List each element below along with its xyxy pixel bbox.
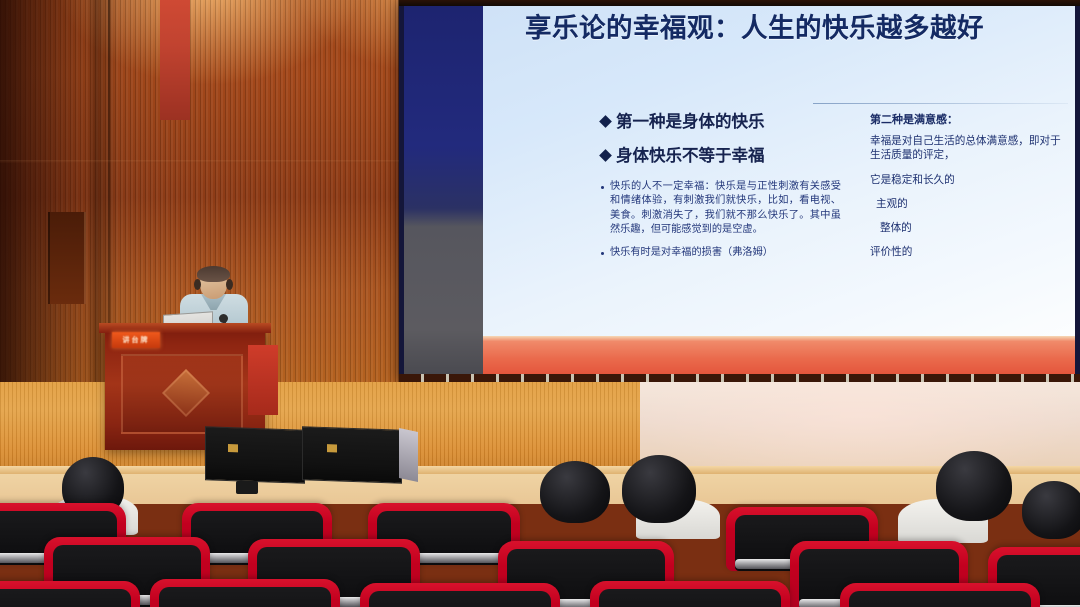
presenter-ear-left — [194, 279, 201, 290]
podium-front-panel — [121, 354, 243, 434]
stage-chair-edge — [248, 345, 278, 415]
diamond-bullet-icon — [599, 149, 612, 162]
speaker-logo-icon — [228, 444, 238, 452]
right-column-body: 幸福是对自己生活的总体满意感，即对于生活质量的评定， — [870, 135, 1070, 164]
slide-title: 享乐论的幸福观：人生的快乐越多越好 — [525, 12, 1055, 45]
seat-back-panel — [599, 589, 781, 607]
right-column-heading: 第二种是满意感： — [870, 111, 1070, 127]
audience-head — [936, 451, 1012, 521]
slide-left-column: 第一种是身体的快乐 身体快乐不等于幸福 快乐的人不一定幸福：快乐是与正性刺激有关… — [601, 112, 841, 268]
diamond-bullet-icon — [599, 115, 612, 128]
diamond-point: 第一种是身体的快乐 — [601, 112, 841, 132]
theater-seat[interactable] — [360, 583, 560, 607]
podium-name-plate: 讲台牌 — [112, 332, 160, 348]
slide-footer-band — [483, 336, 1075, 374]
speaker-logo-icon — [327, 444, 337, 452]
audience-head — [1022, 481, 1080, 539]
diamond-point: 身体快乐不等于幸福 — [601, 146, 841, 166]
sub-bullet: 快乐的人不一定幸福：快乐是与正性刺激有关感受和情绪体验，有刺激我们就快乐，比如，… — [601, 180, 841, 238]
theater-seat[interactable] — [840, 583, 1040, 607]
seat-back-panel — [369, 591, 551, 607]
right-column-item: 它是稳定和长久的 — [870, 172, 1070, 187]
seat-back-panel — [0, 589, 131, 607]
diamond-point-label: 第一种是身体的快乐 — [616, 112, 765, 132]
seat-back-panel — [159, 587, 331, 607]
audience-head — [622, 455, 696, 523]
dot-bullet-icon — [601, 252, 604, 255]
slide-right-column: 第二种是满意感： 幸福是对自己生活的总体满意感，即对于生活质量的评定， 它是稳定… — [870, 111, 1070, 268]
right-column-item: 评价性的 — [870, 244, 1070, 259]
projection-screen: 享乐论的幸福观：人生的快乐越多越好 第一种是身体的快乐 身体快乐不等于幸福 快乐… — [399, 0, 1080, 384]
theater-seat[interactable]: 18 — [150, 579, 340, 607]
presenter-ear-right — [226, 279, 233, 290]
audience-seating: 18 19 20 — [0, 455, 1080, 607]
right-column-item: 整体的 — [870, 220, 1070, 235]
sub-bullet-text: 快乐有时是对幸福的损害（弗洛姆） — [610, 246, 773, 260]
presentation-slide: 享乐论的幸福观：人生的快乐越多越好 第一种是身体的快乐 身体快乐不等于幸福 快乐… — [483, 6, 1075, 374]
theater-seat[interactable]: 19 20 — [590, 581, 790, 607]
dot-bullet-icon — [601, 186, 604, 189]
diamond-point-label: 身体快乐不等于幸福 — [616, 146, 765, 166]
seat-back-panel — [849, 591, 1031, 607]
right-column-item: 主观的 — [870, 196, 1070, 211]
microphone-icon — [219, 314, 228, 323]
podium-side-panel — [160, 0, 190, 120]
audience-head — [540, 461, 610, 523]
side-door[interactable] — [48, 212, 86, 304]
slide-divider-rule — [813, 103, 1068, 104]
lecture-hall-photo: 享乐论的幸福观：人生的快乐越多越好 第一种是身体的快乐 身体快乐不等于幸福 快乐… — [0, 0, 1080, 607]
theater-seat[interactable] — [0, 581, 140, 607]
podium-diamond-ornament — [162, 369, 210, 417]
sub-bullet: 快乐有时是对幸福的损害（弗洛姆） — [601, 246, 841, 260]
presenter-hair — [197, 266, 230, 282]
screen-side-band — [404, 6, 483, 374]
sub-bullet-text: 快乐的人不一定幸福：快乐是与正性刺激有关感受和情绪体验，有刺激我们就快乐，比如，… — [610, 180, 841, 238]
